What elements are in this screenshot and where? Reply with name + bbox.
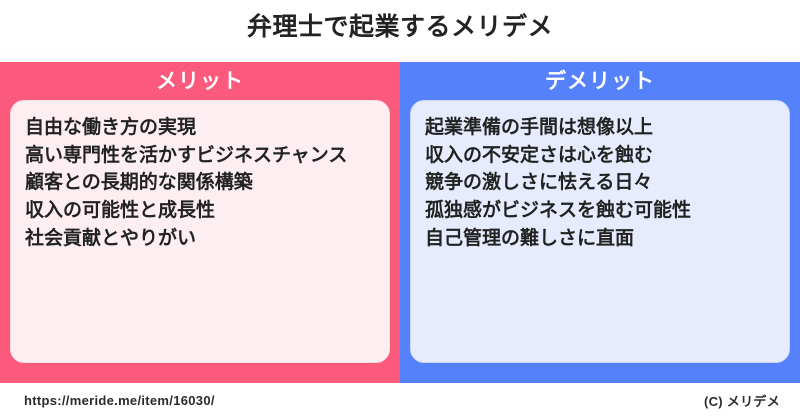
list-item: 競争の激しさに怯える日々 — [425, 169, 775, 197]
page-title: 弁理士で起業するメリデメ — [247, 15, 553, 40]
list-item: 顧客との長期的な関係構築 — [25, 169, 375, 197]
demerit-heading: デメリット — [545, 71, 655, 92]
title-divider — [0, 54, 800, 62]
footer: https://meride.me/item/16030/ (C) メリデメ — [0, 383, 800, 418]
merit-column-header: メリット — [0, 62, 400, 100]
demerit-card: 起業準備の手間は想像以上 収入の不安定さは心を蝕む 競争の激しさに怯える日々 孤… — [410, 100, 790, 363]
merit-card: 自由な働き方の実現 高い専門性を活かすビジネスチャンス 顧客との長期的な関係構築… — [10, 100, 390, 363]
merit-heading: メリット — [156, 71, 244, 92]
comparison-columns: メリット 自由な働き方の実現 高い専門性を活かすビジネスチャンス 顧客との長期的… — [0, 62, 800, 378]
list-item: 起業準備の手間は想像以上 — [425, 114, 775, 142]
demerit-column: デメリット 起業準備の手間は想像以上 収入の不安定さは心を蝕む 競争の激しさに怯… — [400, 62, 800, 378]
page-title-bar: 弁理士で起業するメリデメ — [0, 0, 800, 54]
footer-rule-demerit — [400, 378, 800, 383]
list-item: 収入の不安定さは心を蝕む — [425, 142, 775, 170]
list-item: 高い専門性を活かすビジネスチャンス — [25, 142, 375, 170]
list-item: 自由な働き方の実現 — [25, 114, 375, 142]
list-item: 社会貢献とやりがい — [25, 225, 375, 253]
list-item: 孤独感がビジネスを蝕む可能性 — [425, 197, 775, 225]
footer-rule-merit — [0, 378, 400, 383]
demerit-card-wrap: 起業準備の手間は想像以上 収入の不安定さは心を蝕む 競争の激しさに怯える日々 孤… — [400, 100, 800, 378]
footer-rule — [0, 378, 800, 383]
source-url[interactable]: https://meride.me/item/16030/ — [24, 393, 215, 408]
merit-item-list: 自由な働き方の実現 高い専門性を活かすビジネスチャンス 顧客との長期的な関係構築… — [25, 114, 375, 253]
copyright-label: (C) メリデメ — [704, 391, 780, 410]
list-item: 収入の可能性と成長性 — [25, 197, 375, 225]
list-item: 自己管理の難しさに直面 — [425, 225, 775, 253]
demerit-item-list: 起業準備の手間は想像以上 収入の不安定さは心を蝕む 競争の激しさに怯える日々 孤… — [425, 114, 775, 253]
merit-column: メリット 自由な働き方の実現 高い専門性を活かすビジネスチャンス 顧客との長期的… — [0, 62, 400, 378]
merit-card-wrap: 自由な働き方の実現 高い専門性を活かすビジネスチャンス 顧客との長期的な関係構築… — [0, 100, 400, 378]
demerit-column-header: デメリット — [400, 62, 800, 100]
